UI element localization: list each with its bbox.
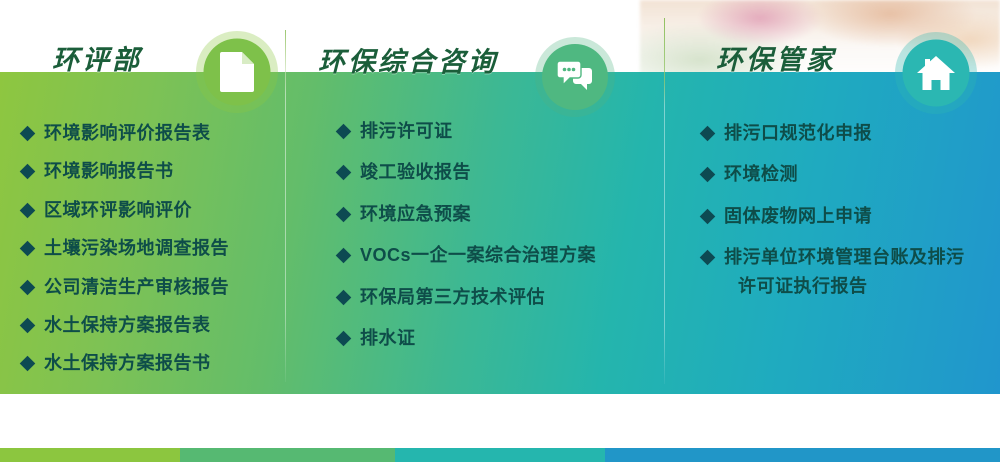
list-item: 水土保持方案报告书 xyxy=(22,352,280,375)
column-1-list: 环境影响评价报告表 环境影响报告书 区域环评影响评价 土壤污染场地调查报告 公司… xyxy=(22,122,280,391)
chat-bubbles-icon-badge xyxy=(535,37,615,117)
list-item-label: 水土保持方案报告书 xyxy=(44,352,280,375)
list-item-label: 环保局第三方技术评估 xyxy=(360,286,654,309)
list-item: 固体废物网上申请 xyxy=(702,205,992,228)
list-item-label: 排污许可证 xyxy=(360,120,654,143)
strip-segment-4 xyxy=(605,448,1000,462)
list-item-line-2: 许可证执行报告 xyxy=(724,275,992,298)
list-item: 环境影响评价报告表 xyxy=(22,122,280,145)
list-item: 水土保持方案报告表 xyxy=(22,314,280,337)
diamond-bullet-icon xyxy=(20,241,36,257)
list-item: 环保局第三方技术评估 xyxy=(338,286,654,309)
list-item-label: 排水证 xyxy=(360,327,654,350)
diamond-bullet-icon xyxy=(700,126,716,142)
diamond-bullet-icon xyxy=(20,318,36,334)
diamond-bullet-icon xyxy=(700,167,716,183)
column-divider-1 xyxy=(285,30,286,382)
column-3-list: 排污口规范化申报 环境检测 固体废物网上申请 排污单位环境管理台账及排污 许可证… xyxy=(702,122,992,316)
diamond-bullet-icon xyxy=(700,250,716,266)
diamond-bullet-icon xyxy=(336,289,352,305)
list-item-label: 排污单位环境管理台账及排污 许可证执行报告 xyxy=(724,246,992,298)
document-icon xyxy=(220,52,254,92)
strip-segment-3 xyxy=(395,448,605,462)
list-item-label: 排污口规范化申报 xyxy=(724,122,992,145)
column-1-header: 环评部 xyxy=(52,38,142,77)
diamond-bullet-icon xyxy=(20,164,36,180)
list-item: 环境检测 xyxy=(702,163,992,186)
diamond-bullet-icon xyxy=(336,248,352,264)
diamond-bullet-icon xyxy=(20,279,36,295)
list-item-label: 竣工验收报告 xyxy=(360,161,654,184)
diamond-bullet-icon xyxy=(336,207,352,223)
list-item-label: 环境影响报告书 xyxy=(44,160,280,183)
column-divider-2 xyxy=(664,18,665,384)
chat-bubbles-icon xyxy=(557,61,593,93)
list-item: 排污许可证 xyxy=(338,120,654,143)
list-item: 环境影响报告书 xyxy=(22,160,280,183)
strip-segment-2 xyxy=(180,448,395,462)
diamond-bullet-icon xyxy=(336,124,352,140)
infographic-poster: 环评部 环境影响评价报告表 环境影响报告书 区域环评影响评价 土壤污染场地调查报… xyxy=(0,0,1000,462)
diamond-bullet-icon xyxy=(336,331,352,347)
diamond-bullet-icon xyxy=(700,209,716,225)
list-item-label: 环境应急预案 xyxy=(360,203,654,226)
list-item-label: 固体废物网上申请 xyxy=(724,205,992,228)
list-item-line-1: 排污单位环境管理台账及排污 xyxy=(724,247,965,267)
list-item: VOCs一企一案综合治理方案 xyxy=(338,244,654,267)
list-item: 竣工验收报告 xyxy=(338,161,654,184)
list-item-label: 区域环评影响评价 xyxy=(44,199,280,222)
list-item: 区域环评影响评价 xyxy=(22,199,280,222)
list-item: 土壤污染场地调查报告 xyxy=(22,237,280,260)
list-item: 公司清洁生产审核报告 xyxy=(22,276,280,299)
diamond-bullet-icon xyxy=(20,356,36,372)
column-2-header: 环保综合咨询 xyxy=(318,40,498,79)
list-item-label: 土壤污染场地调查报告 xyxy=(44,237,280,260)
diamond-bullet-icon xyxy=(336,165,352,181)
bottom-color-strip xyxy=(0,448,1000,462)
list-item-label: VOCs一企一案综合治理方案 xyxy=(360,244,654,267)
list-item-label: 公司清洁生产审核报告 xyxy=(44,276,280,299)
list-item-label: 环境影响评价报告表 xyxy=(44,122,280,145)
diamond-bullet-icon xyxy=(20,126,36,142)
list-item: 环境应急预案 xyxy=(338,203,654,226)
column-3-header: 环保管家 xyxy=(716,38,836,77)
list-item: 排污单位环境管理台账及排污 许可证执行报告 xyxy=(702,246,992,298)
column-2-list: 排污许可证 竣工验收报告 环境应急预案 VOCs一企一案综合治理方案 环保局第三… xyxy=(338,120,654,368)
document-icon-badge xyxy=(196,31,278,113)
list-item-label: 水土保持方案报告表 xyxy=(44,314,280,337)
diamond-bullet-icon xyxy=(20,203,36,219)
house-icon-badge xyxy=(895,32,977,114)
list-item: 排水证 xyxy=(338,327,654,350)
list-item: 排污口规范化申报 xyxy=(702,122,992,145)
house-icon xyxy=(916,55,956,91)
strip-segment-1 xyxy=(0,448,180,462)
list-item-label: 环境检测 xyxy=(724,163,992,186)
